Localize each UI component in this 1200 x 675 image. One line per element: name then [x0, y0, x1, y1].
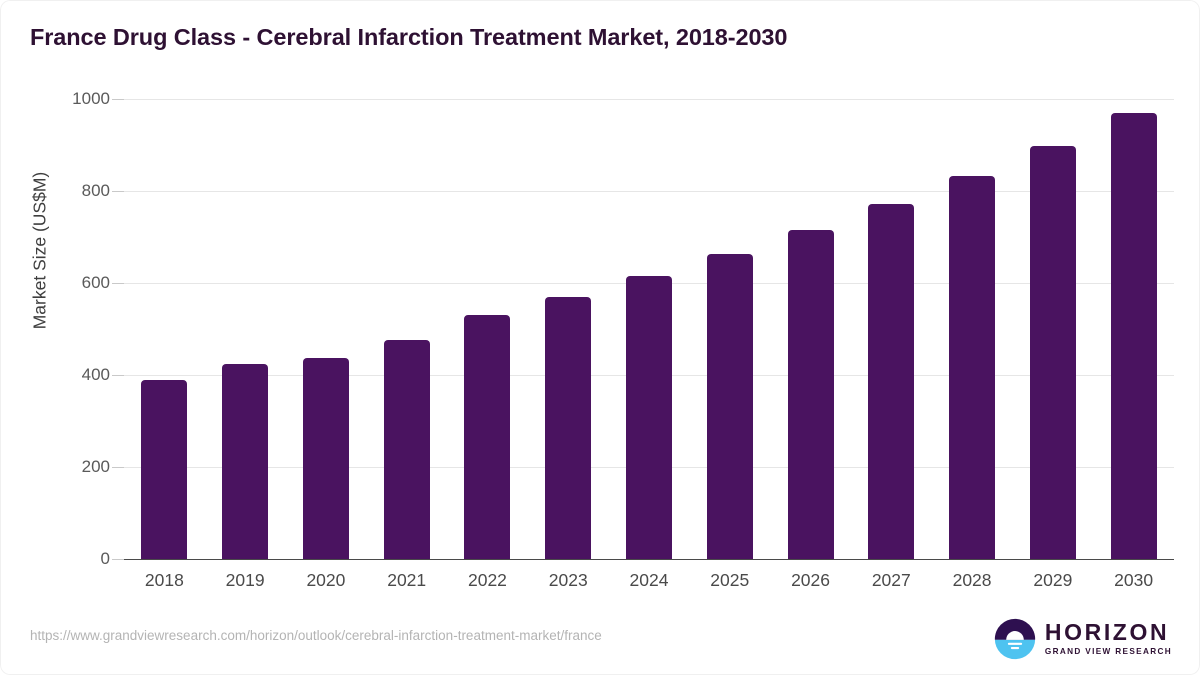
plot-area	[124, 99, 1174, 559]
bar[interactable]	[707, 254, 753, 559]
bar[interactable]	[1030, 146, 1076, 559]
x-axis-tick-label: 2022	[468, 570, 507, 591]
bar[interactable]	[949, 176, 995, 559]
logo-text: HORIZON GRAND VIEW RESEARCH	[1045, 621, 1172, 656]
horizon-circle-icon	[994, 618, 1036, 660]
x-axis-tick-label: 2018	[145, 570, 184, 591]
y-axis-tick-mark	[112, 467, 124, 468]
y-axis-tick-mark	[112, 283, 124, 284]
x-axis-tick-label: 2030	[1114, 570, 1153, 591]
y-axis-tick-label: 1000	[72, 89, 110, 109]
gridline	[124, 191, 1174, 192]
y-axis-tick-label: 0	[101, 549, 110, 569]
y-axis-tick-labels: 02004006008001000	[0, 99, 110, 559]
x-axis-tick-label: 2024	[630, 570, 669, 591]
bar[interactable]	[1111, 113, 1157, 559]
x-axis-tick-label: 2029	[1033, 570, 1072, 591]
x-axis-tick-label: 2028	[953, 570, 992, 591]
x-axis-tick-label: 2019	[226, 570, 265, 591]
y-axis-tick-mark	[112, 99, 124, 100]
bar[interactable]	[464, 315, 510, 559]
y-axis-tick-marks	[112, 99, 124, 559]
bar[interactable]	[788, 230, 834, 559]
bar[interactable]	[141, 380, 187, 559]
horizon-logo[interactable]: HORIZON GRAND VIEW RESEARCH	[994, 617, 1172, 661]
x-axis-tick-label: 2025	[710, 570, 749, 591]
page-title: France Drug Class - Cerebral Infarction …	[30, 24, 787, 51]
bar[interactable]	[868, 204, 914, 559]
x-axis-tick-label: 2027	[872, 570, 911, 591]
y-axis-tick-label: 600	[82, 273, 110, 293]
bar[interactable]	[303, 358, 349, 559]
y-axis-tick-label: 200	[82, 457, 110, 477]
x-axis-tick-labels: 2018201920202021202220232024202520262027…	[124, 570, 1174, 600]
bar[interactable]	[222, 364, 268, 559]
chart-card: France Drug Class - Cerebral Infarction …	[0, 0, 1200, 675]
bar[interactable]	[626, 276, 672, 559]
source-url[interactable]: https://www.grandviewresearch.com/horizo…	[30, 628, 602, 643]
x-axis-tick-label: 2026	[791, 570, 830, 591]
x-axis-tick-label: 2023	[549, 570, 588, 591]
x-axis-tick-label: 2021	[387, 570, 426, 591]
y-axis-tick-mark	[112, 375, 124, 376]
gridline	[124, 99, 1174, 100]
y-axis-tick-label: 400	[82, 365, 110, 385]
y-axis-tick-mark	[112, 559, 124, 560]
x-axis-tick-label: 2020	[306, 570, 345, 591]
y-axis-tick-label: 800	[82, 181, 110, 201]
bar[interactable]	[545, 297, 591, 559]
logo-wordmark: HORIZON	[1045, 621, 1172, 644]
y-axis-tick-mark	[112, 191, 124, 192]
x-axis-line	[124, 559, 1174, 561]
logo-tagline: GRAND VIEW RESEARCH	[1045, 648, 1172, 656]
bar[interactable]	[384, 340, 430, 559]
